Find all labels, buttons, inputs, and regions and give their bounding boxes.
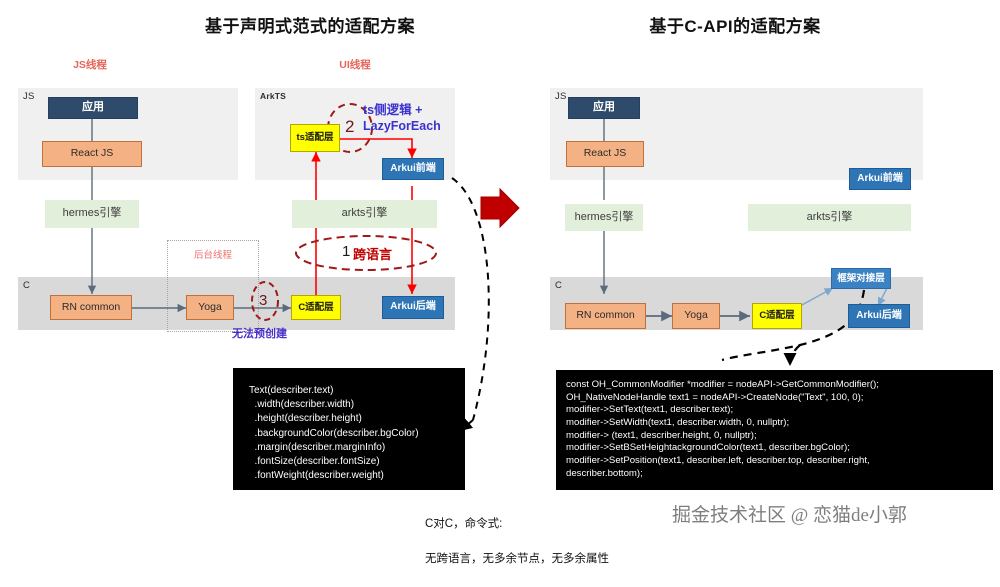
node-yoga-left[interactable]: Yoga (186, 295, 234, 320)
background-thread-label: 后台线程 (167, 247, 259, 261)
right-diagram-title: 基于C-API的适配方案 (545, 12, 925, 37)
annotation-ts-logic: ts侧逻辑 + LazyForEach (363, 103, 441, 134)
node-c-adapter-right[interactable]: C适配层 (752, 303, 802, 329)
footer-note: C对C，命令式: 无跨语言，无多余节点，无多余属性 (425, 498, 609, 587)
node-app-left[interactable]: 应用 (48, 97, 138, 119)
node-bridge-layer[interactable]: 框架对接层 (831, 268, 891, 289)
footer-note-line2: 无跨语言，无多余节点，无多余属性 (425, 551, 609, 569)
declarative-code-text: Text(describer.text) .width(describer.wi… (249, 385, 419, 481)
node-app-right[interactable]: 应用 (568, 97, 640, 119)
region-js-left-tag: JS (23, 91, 35, 102)
marker-3-label: 3 (259, 292, 267, 309)
region-c-left-tag: C (23, 280, 30, 291)
node-arkui-backend-left[interactable]: Arkui后端 (382, 296, 444, 319)
node-arkui-frontend-right[interactable]: Arkui前端 (849, 168, 911, 190)
capi-code-block: const OH_CommonModifier *modifier = node… (556, 370, 993, 490)
node-hermes-engine-right[interactable]: hermes引擎 (565, 204, 643, 231)
node-arkui-backend-right[interactable]: Arkui后端 (848, 304, 910, 328)
capi-code-text: const OH_CommonModifier *modifier = node… (566, 379, 879, 479)
no-precreate-label: 无法预创建 (232, 325, 287, 341)
marker-1-label: 1 (342, 243, 350, 260)
annotation-ts-logic-line2: LazyForEach (363, 119, 441, 135)
node-rn-common-right[interactable]: RN common (565, 303, 646, 329)
thread-label-js: JS线程 (55, 57, 125, 72)
thread-label-ui: UI线程 (320, 57, 390, 72)
node-react-js-right[interactable]: React JS (566, 141, 644, 167)
node-arkts-engine-left[interactable]: arkts引擎 (292, 200, 437, 228)
node-rn-common-left[interactable]: RN common (50, 295, 132, 320)
node-ts-adapter[interactable]: ts适配层 (290, 124, 340, 152)
region-c-right-tag: C (555, 280, 562, 291)
node-yoga-right[interactable]: Yoga (672, 303, 720, 329)
region-arkts-tag: ArkTS (260, 91, 286, 101)
cross-language-label: 跨语言 (353, 244, 392, 263)
region-js-right-tag: JS (555, 91, 567, 102)
node-react-js-left[interactable]: React JS (42, 141, 142, 167)
node-arkts-engine-right[interactable]: arkts引擎 (748, 204, 911, 231)
left-diagram-title: 基于声明式范式的适配方案 (120, 12, 500, 37)
declarative-code-block: Text(describer.text) .width(describer.wi… (233, 368, 465, 490)
watermark: 掘金技术社区 @ 恋猫de小郭 (672, 500, 907, 527)
marker-2-label: 2 (345, 117, 354, 137)
node-hermes-engine-left[interactable]: hermes引擎 (45, 200, 139, 228)
node-c-adapter-left[interactable]: C适配层 (291, 295, 341, 320)
footer-note-line1: C对C，命令式: (425, 516, 609, 534)
node-arkui-frontend-left[interactable]: Arkui前端 (382, 158, 444, 180)
annotation-ts-logic-line1: ts侧逻辑 + (363, 103, 441, 119)
transition-arrow-icon (481, 189, 519, 227)
